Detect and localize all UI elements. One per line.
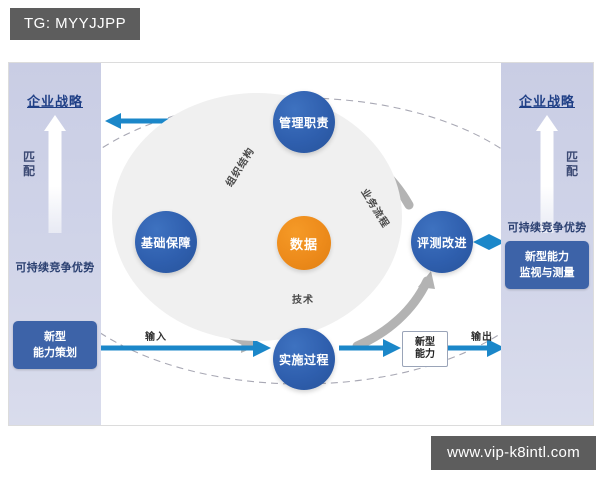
- node-data-core[interactable]: 数据: [277, 216, 331, 270]
- panel-right-box-line2: 监视与测量: [520, 266, 575, 279]
- panel-enterprise-strategy-right: 企业战略 匹配 可持续竞争优势 新型能力 监视与测量: [501, 63, 593, 425]
- node-basic-support[interactable]: 基础保障: [135, 211, 197, 273]
- panel-left-box-line2: 能力策划: [33, 346, 77, 359]
- panel-enterprise-strategy-left: 企业战略 匹配 可持续竞争优势 新型 能力策划: [9, 63, 101, 425]
- panel-right-advantage-label: 可持续竞争优势: [501, 219, 593, 235]
- up-arrow-icon: [536, 115, 558, 233]
- node-evaluation-improvement[interactable]: 评测改进: [411, 211, 473, 273]
- label-input: 输入: [145, 328, 167, 343]
- panel-right-match-label: 匹配: [566, 151, 579, 179]
- panel-left-match-label: 匹配: [23, 151, 36, 179]
- tg-tag-banner: TG: MYYJJPP: [10, 8, 140, 40]
- new-capability-output-box[interactable]: 新型 能力: [402, 331, 448, 367]
- cap-box-line2: 能力: [415, 349, 435, 362]
- panel-right-title: 企业战略: [501, 91, 593, 110]
- label-technology: 技术: [292, 291, 314, 306]
- node-implementation-process[interactable]: 实施过程: [273, 328, 335, 390]
- panel-left-title: 企业战略: [9, 91, 101, 110]
- panel-left-advantage-label: 可持续竞争优势: [9, 259, 101, 275]
- diagram-canvas: 企业战略 匹配 可持续竞争优势 新型 能力策划 企业战略 匹配 可持续竞争优势 …: [8, 62, 594, 426]
- panel-left-box-line1: 新型: [44, 330, 66, 343]
- node-management-responsibility[interactable]: 管理职责: [273, 91, 335, 153]
- panel-right-box-line1: 新型能力: [525, 250, 569, 263]
- label-output: 输出: [471, 328, 493, 343]
- panel-left-capability-box[interactable]: 新型 能力策划: [13, 321, 97, 369]
- cap-box-line1: 新型: [415, 337, 435, 350]
- up-arrow-icon: [44, 115, 66, 233]
- site-url-banner: www.vip-k8intl.com: [431, 436, 596, 470]
- panel-right-capability-box[interactable]: 新型能力 监视与测量: [505, 241, 589, 289]
